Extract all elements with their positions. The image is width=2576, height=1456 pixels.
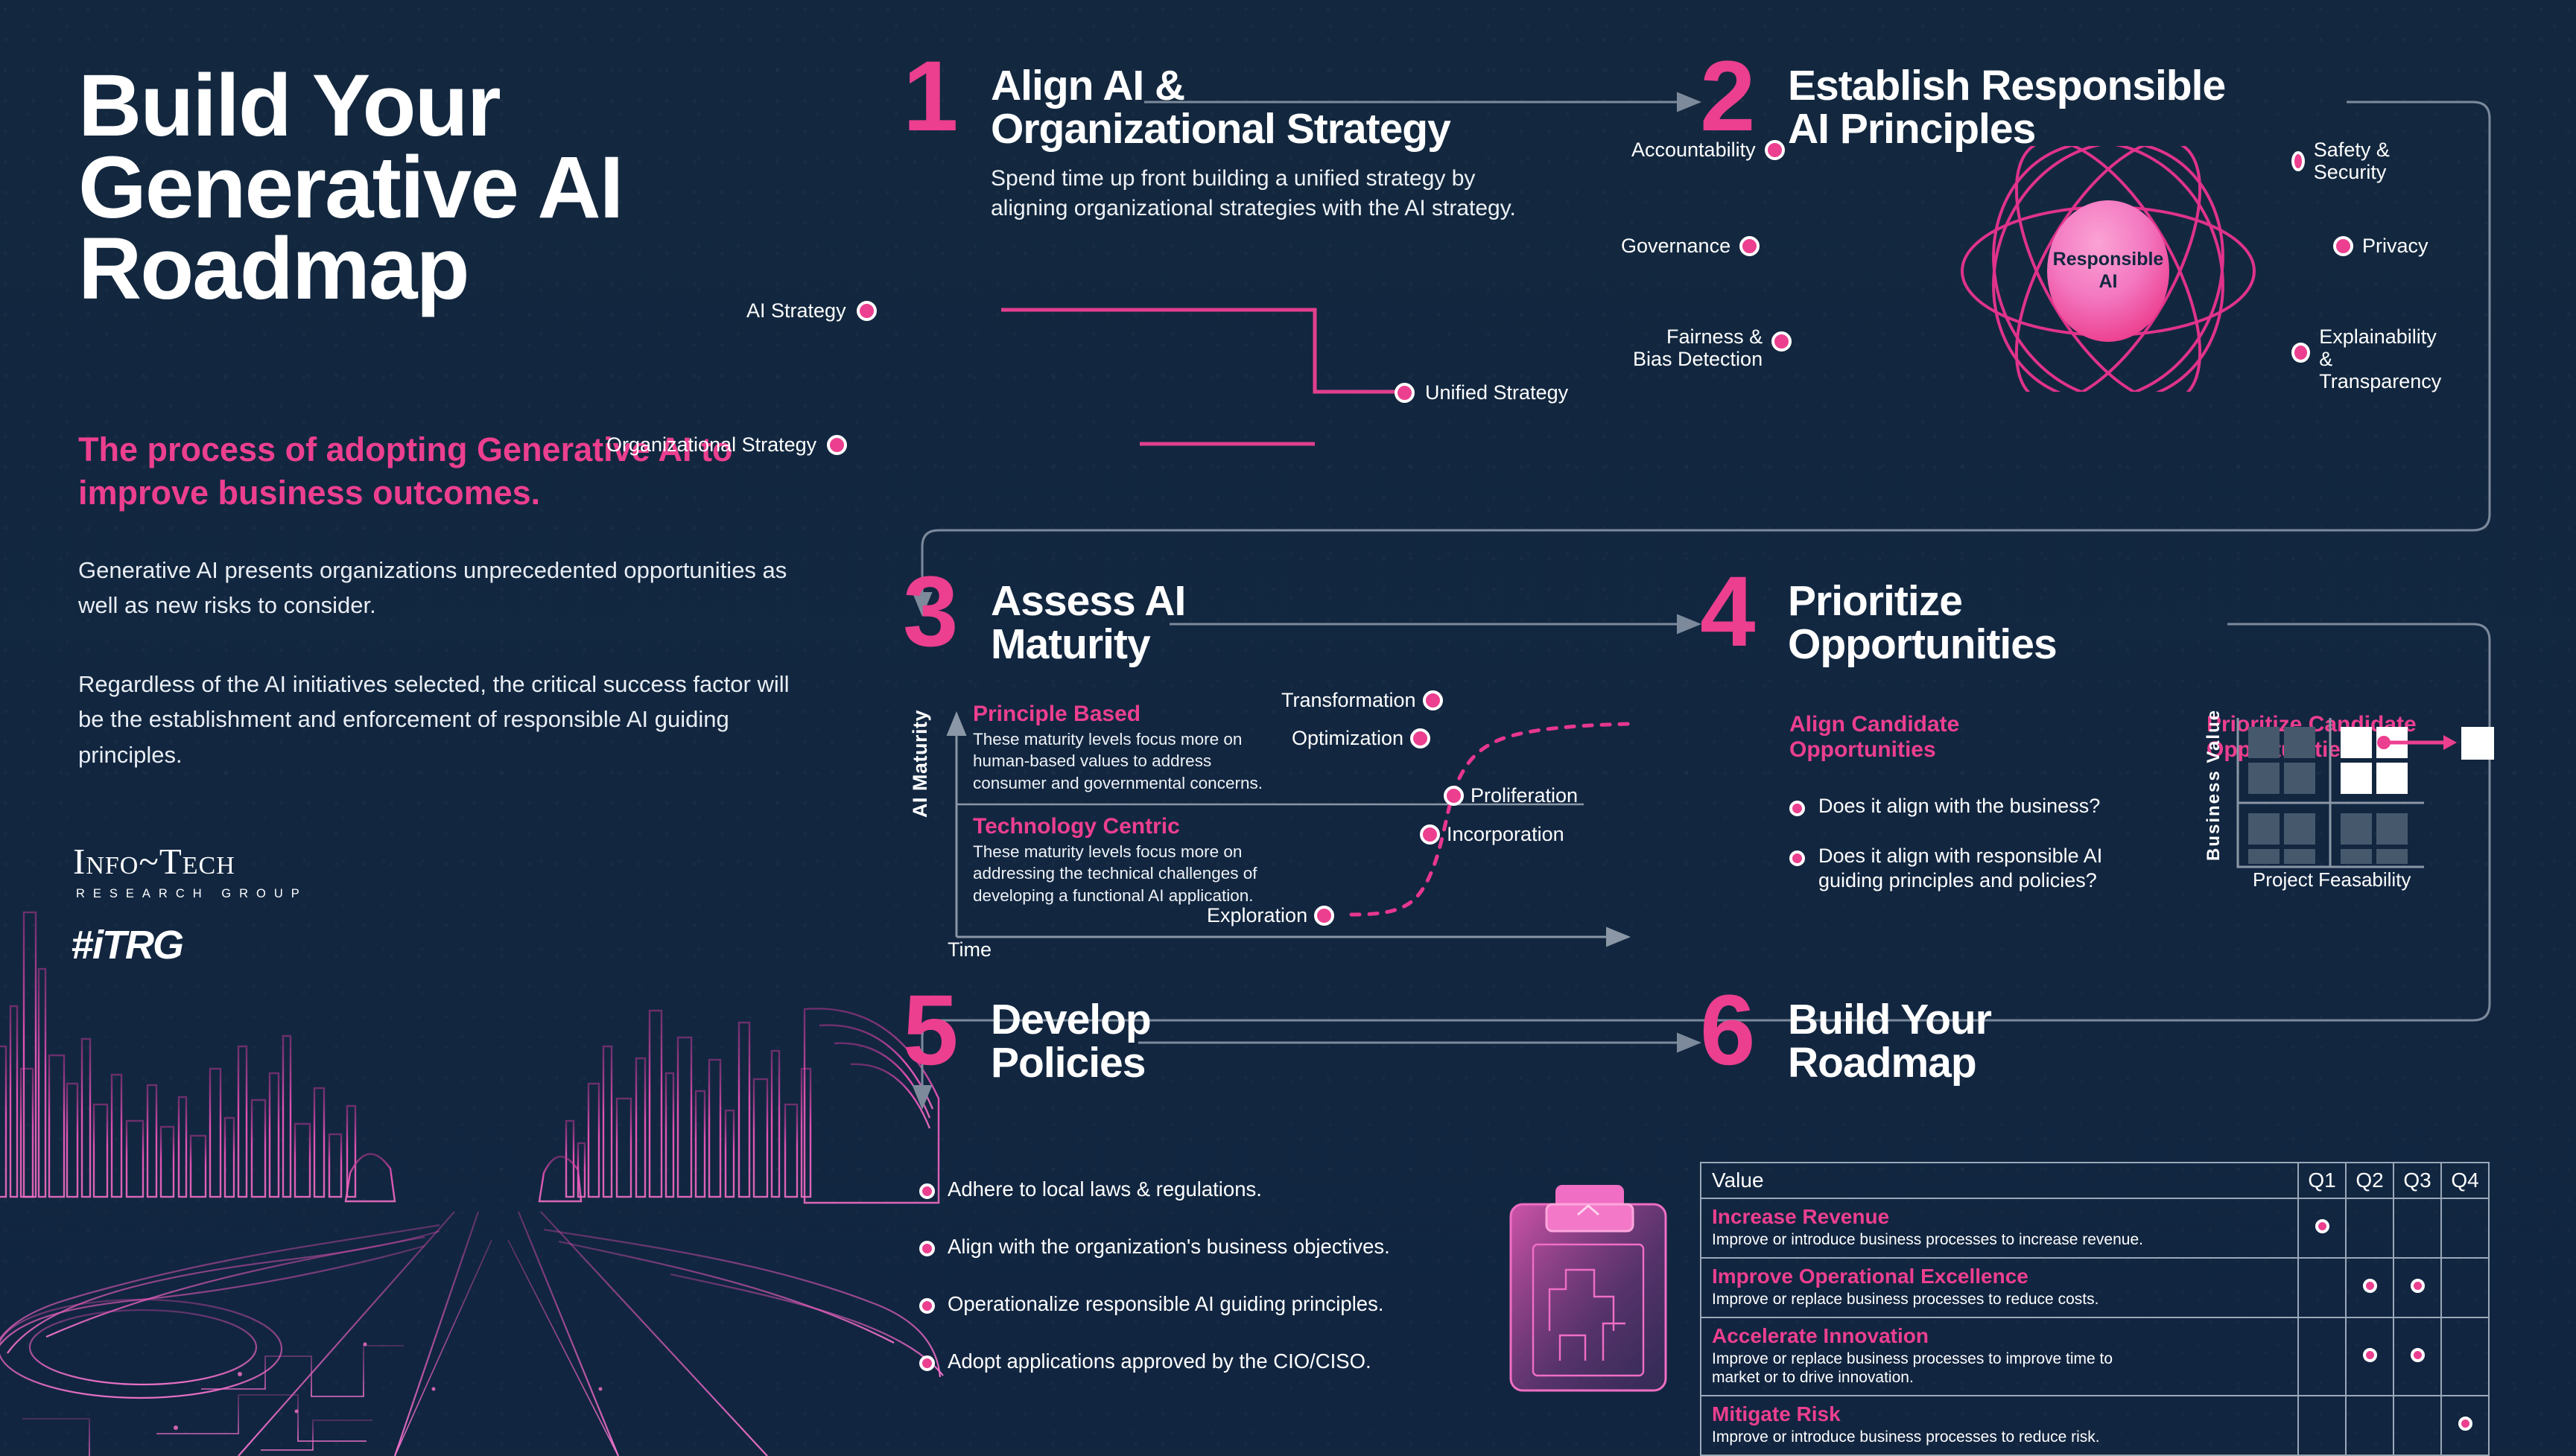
principle-label-fairness-bias: Fairness & Bias Detection	[1633, 325, 1763, 370]
quarter-cell-q1	[2298, 1396, 2346, 1455]
intro-paragraph-2: Regardless of the AI initiatives selecte…	[78, 667, 793, 772]
step-4-left-heading: Align Candidate Opportunities	[1789, 712, 2102, 762]
roadmap-row-title: Accelerate Innovation	[1712, 1325, 2297, 1348]
clipboard-icon	[1491, 1182, 1685, 1398]
maturity-label-incorporation: Incorporation	[1447, 823, 1564, 845]
table-header-row: Value Q1 Q2 Q3 Q4	[1701, 1163, 2489, 1198]
bullet-dot-icon	[919, 1183, 935, 1199]
node-dot-organizational-strategy	[827, 435, 847, 455]
principle-label-explainability: Explainability & Transparency	[2319, 325, 2443, 393]
logo-wordmark: Info~Tech	[73, 840, 308, 883]
principle-dot-accountability	[1765, 140, 1785, 160]
maturity-dot-incorporation	[1420, 824, 1440, 845]
quarter-cell-q4	[2441, 1198, 2489, 1258]
quarter-marker-dot	[2411, 1279, 2425, 1293]
column-header-q4: Q4	[2441, 1163, 2489, 1198]
bullet-dot-icon	[1789, 801, 1805, 816]
maturity-dot-optimization	[1410, 728, 1430, 748]
step-4-question-2: Does it align with responsible AI guidin…	[1818, 844, 2102, 893]
step-2-number: 2	[1700, 58, 1751, 136]
logo-tagline: RESEARCH GROUP	[76, 887, 308, 901]
futuristic-city-illustration	[0, 823, 946, 1456]
quarter-cell-q2	[2346, 1396, 2393, 1455]
step-1-align-ai: 1 Align AI & Organizational Strategy Spe…	[903, 58, 1678, 475]
hero-panel: Build Your Generative AI Roadmap The pro…	[0, 0, 879, 1449]
list-item: Adhere to local laws & regulations.	[919, 1177, 1500, 1201]
roadmap-value-cell: Increase Revenue Improve or introduce bu…	[1701, 1198, 2298, 1258]
column-header-q1: Q1	[2298, 1163, 2346, 1198]
quarter-marker-dot	[2363, 1279, 2377, 1293]
tier-title-technology-centric: Technology Centric	[973, 814, 1420, 839]
step-4-title: Prioritize Opportunities	[1788, 579, 2057, 666]
roadmap-value-cell: Accelerate Innovation Improve or replace…	[1701, 1317, 2298, 1396]
step-3-number: 3	[903, 573, 954, 652]
step-1-title: Align AI & Organizational Strategy	[991, 64, 1450, 150]
policy-item-1: Adhere to local laws & regulations.	[948, 1177, 1262, 1201]
step-4-number: 4	[1700, 573, 1751, 652]
node-label-organizational-strategy: Organizational Strategy	[606, 433, 816, 456]
quarter-cell-q4	[2441, 1396, 2489, 1455]
step-1-strategy-merge-diagram: AI Strategy Organizational Strategy Unif…	[903, 282, 1573, 453]
intro-paragraph-1: Generative AI presents organizations unp…	[78, 553, 793, 623]
atom-core-label-line2: AI	[2099, 271, 2118, 292]
step-2-responsible-ai: 2 Establish Responsible AI Principles Re…	[1700, 58, 2504, 475]
quarter-cell-q1	[2298, 1317, 2346, 1396]
roadmap-row-title: Increase Revenue	[1712, 1206, 2297, 1229]
itrg-hashtag-logo: #iTRG	[72, 922, 183, 968]
roadmap-row-desc: Improve or replace business processes to…	[1712, 1290, 2297, 1309]
policy-item-2: Align with the organization's business o…	[948, 1234, 1390, 1259]
maturity-label-proliferation: Proliferation	[1471, 784, 1578, 807]
principle-dot-privacy	[2333, 236, 2353, 256]
quarter-cell-q3	[2393, 1317, 2441, 1396]
principle-dot-governance	[1739, 236, 1760, 256]
bullet-dot-icon	[919, 1355, 935, 1371]
table-row: Improve Operational Excellence Improve o…	[1701, 1258, 2489, 1317]
principle-label-accountability: Accountability	[1631, 139, 1756, 161]
table-row: Mitigate Risk Improve or introduce busin…	[1701, 1396, 2489, 1455]
maturity-dot-proliferation	[1444, 786, 1464, 806]
bullet-dot-icon	[919, 1298, 935, 1314]
step-5-number: 5	[903, 992, 954, 1070]
maturity-label-optimization: Optimization	[1292, 727, 1403, 749]
step-6-build-roadmap: 6 Build Your Roadmap Value Q1 Q2 Q3 Q4 I…	[1700, 992, 2527, 1409]
roadmap-value-cell: Improve Operational Excellence Improve o…	[1701, 1258, 2298, 1317]
roadmap-value-cell: Mitigate Risk Improve or introduce busin…	[1701, 1396, 2298, 1455]
principle-dot-fairness-bias	[1771, 331, 1792, 352]
quarter-cell-q4	[2441, 1258, 2489, 1317]
principle-label-privacy: Privacy	[2362, 235, 2429, 257]
atom-core-label-line1: Responsible	[2053, 249, 2164, 270]
step-6-title: Build Your Roadmap	[1788, 998, 1991, 1084]
principle-dot-explainability	[2291, 343, 2310, 363]
step-5-title: Develop Policies	[991, 998, 1151, 1084]
quarter-cell-q1	[2298, 1258, 2346, 1317]
node-label-ai-strategy: AI Strategy	[746, 299, 846, 322]
roadmap-row-desc: Improve or replace business processes to…	[1712, 1349, 2297, 1387]
maturity-dot-exploration	[1314, 906, 1334, 926]
maturity-label-exploration: Exploration	[1207, 904, 1307, 926]
matrix-x-axis-label: Project Feasability	[2253, 868, 2411, 891]
node-label-unified-strategy: Unified Strategy	[1425, 381, 1568, 404]
step-3-x-axis-label: Time	[948, 938, 992, 961]
policy-item-3: Operationalize responsible AI guiding pr…	[948, 1291, 1384, 1316]
bullet-dot-icon	[919, 1241, 935, 1256]
hash-symbol: #	[72, 923, 92, 967]
column-header-q2: Q2	[2346, 1163, 2393, 1198]
step-3-title: Assess AI Maturity	[991, 579, 1185, 666]
matrix-y-axis-label: Business Value	[2204, 709, 2224, 861]
tier-body-technology-centric: These maturity levels focus more on addr…	[973, 841, 1420, 906]
quarter-marker-dot	[2363, 1348, 2377, 1362]
node-dot-unified-strategy	[1395, 383, 1415, 403]
maturity-dot-transformation	[1423, 690, 1443, 710]
list-item: Does it align with responsible AI guidin…	[1789, 844, 2177, 893]
column-header-value: Value	[1701, 1163, 2298, 1198]
quarter-cell-q3	[2393, 1396, 2441, 1455]
node-dot-ai-strategy	[857, 301, 877, 321]
quarter-marker-dot	[2458, 1417, 2472, 1431]
quarter-marker-dot	[2315, 1219, 2329, 1233]
quarter-cell-q3	[2393, 1198, 2441, 1258]
step-2-title: Establish Responsible AI Principles	[1788, 64, 2225, 150]
quarter-cell-q2	[2346, 1317, 2393, 1396]
column-header-q3: Q3	[2393, 1163, 2441, 1198]
bullet-dot-icon	[1789, 851, 1805, 866]
quarter-cell-q1	[2298, 1198, 2346, 1258]
list-item: Align with the organization's business o…	[919, 1234, 1500, 1259]
roadmap-table: Value Q1 Q2 Q3 Q4 Increase Revenue Impro…	[1700, 1162, 2490, 1456]
step-1-description: Spend time up front building a unified s…	[991, 164, 1631, 223]
quarter-marker-dot	[2411, 1348, 2425, 1362]
principle-dot-safety-security	[2291, 151, 2305, 171]
itrg-wordmark: iTRG	[92, 923, 183, 967]
quarter-cell-q2	[2346, 1198, 2393, 1258]
step-3-maturity-chart: AI Maturity Time Principle Based These m…	[913, 691, 1666, 959]
list-item: Does it align with the business?	[1789, 794, 2177, 818]
roadmap-row-desc: Improve or introduce business processes …	[1712, 1428, 2297, 1446]
policy-item-4: Adopt applications approved by the CIO/C…	[948, 1349, 1371, 1373]
list-item: Operationalize responsible AI guiding pr…	[919, 1291, 1500, 1316]
step-4-question-list: Does it align with the business? Does it…	[1789, 794, 2177, 918]
list-item: Adopt applications approved by the CIO/C…	[919, 1349, 1500, 1373]
step-3-y-axis-label: AI Maturity	[909, 710, 932, 818]
roadmap-row-title: Improve Operational Excellence	[1712, 1265, 2297, 1288]
table-row: Increase Revenue Improve or introduce bu…	[1701, 1198, 2489, 1258]
quarter-cell-q4	[2441, 1317, 2489, 1396]
step-5-policy-list: Adhere to local laws & regulations. Alig…	[919, 1177, 1500, 1406]
page-title: Build Your Generative AI Roadmap	[78, 66, 838, 311]
principle-label-safety-security: Safety & Security	[2314, 139, 2393, 183]
principle-label-governance: Governance	[1621, 235, 1730, 257]
step-5-develop-policies: 5 Develop Policies Adhere to local laws …	[903, 992, 1715, 1409]
table-row: Accelerate Innovation Improve or replace…	[1701, 1317, 2489, 1396]
roadmap-row-desc: Improve or introduce business processes …	[1712, 1230, 2297, 1249]
step-2-atom-diagram: Responsible AI Accountability Safety & S…	[1825, 146, 2391, 392]
maturity-label-transformation: Transformation	[1281, 689, 1416, 711]
step-4-question-1: Does it align with the business?	[1818, 794, 2100, 818]
info-tech-logo: Info~Tech RESEARCH GROUP	[73, 840, 308, 901]
step-6-number: 6	[1700, 992, 1751, 1070]
roadmap-row-title: Mitigate Risk	[1712, 1403, 2297, 1426]
step-1-number: 1	[903, 58, 954, 136]
step-3-assess-maturity: 3 Assess AI Maturity AI Maturity Time Pr…	[903, 573, 1715, 991]
quarter-cell-q3	[2393, 1258, 2441, 1317]
quarter-cell-q2	[2346, 1258, 2393, 1317]
step-4-priority-matrix: Business Value Project Feasability	[2207, 715, 2519, 909]
step-4-prioritize: 4 Prioritize Opportunities Align Candida…	[1700, 573, 2519, 991]
